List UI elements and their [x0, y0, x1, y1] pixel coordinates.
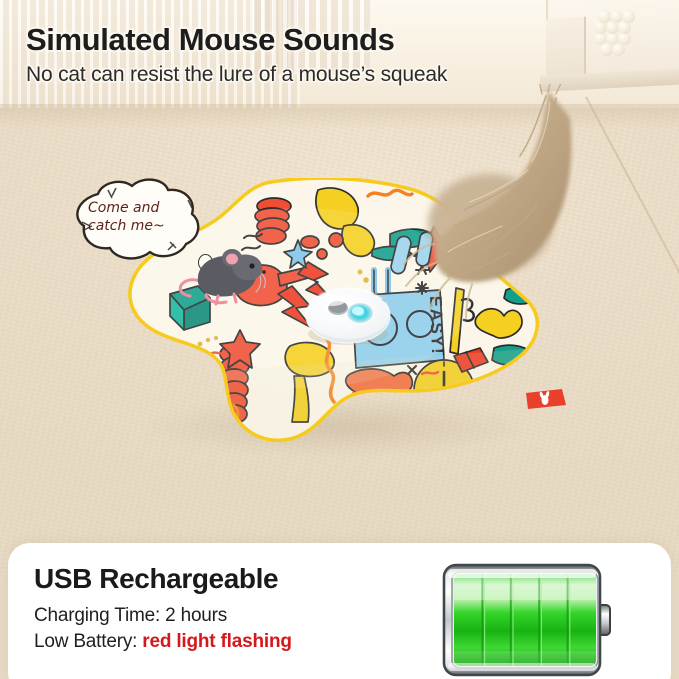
headline-block: Simulated Mouse Sounds No cat can resist…	[26, 24, 447, 87]
low-battery-label: Low Battery:	[34, 631, 142, 652]
thought-bubble: Come and catch me~	[62, 178, 208, 264]
brand-tag	[524, 387, 568, 416]
page-title: Simulated Mouse Sounds	[26, 24, 447, 57]
charging-time-value: 2 hours	[165, 605, 227, 626]
card-title: USB Rechargeable	[34, 563, 278, 595]
cat-tail-icon	[398, 84, 648, 334]
thought-bubble-line-1: Come and	[88, 200, 192, 218]
sound-module-dome[interactable]	[302, 282, 394, 355]
page-subtitle: No cat can resist the lure of a mouse’s …	[26, 63, 447, 87]
low-battery-line: Low Battery: red light flashing	[34, 631, 292, 653]
product-feature-image: Simulated Mouse Sounds No cat can resist…	[0, 0, 679, 679]
usb-rechargeable-card: USB Rechargeable Charging Time: 2 hours …	[8, 543, 671, 679]
low-battery-status: red light flashing	[142, 631, 291, 652]
dome-device-icon	[302, 282, 394, 350]
charging-time-label: Charging Time:	[34, 605, 165, 626]
bubble-candle-decor	[592, 2, 636, 60]
battery-icon-graphic	[438, 557, 628, 679]
battery-full-icon	[438, 557, 628, 679]
brand-tag-icon	[524, 387, 568, 411]
thought-bubble-text: Come and catch me~	[88, 200, 192, 235]
thought-bubble-line-2: catch me~	[88, 218, 192, 236]
cat	[398, 84, 648, 339]
charging-time-line: Charging Time: 2 hours	[34, 605, 227, 627]
